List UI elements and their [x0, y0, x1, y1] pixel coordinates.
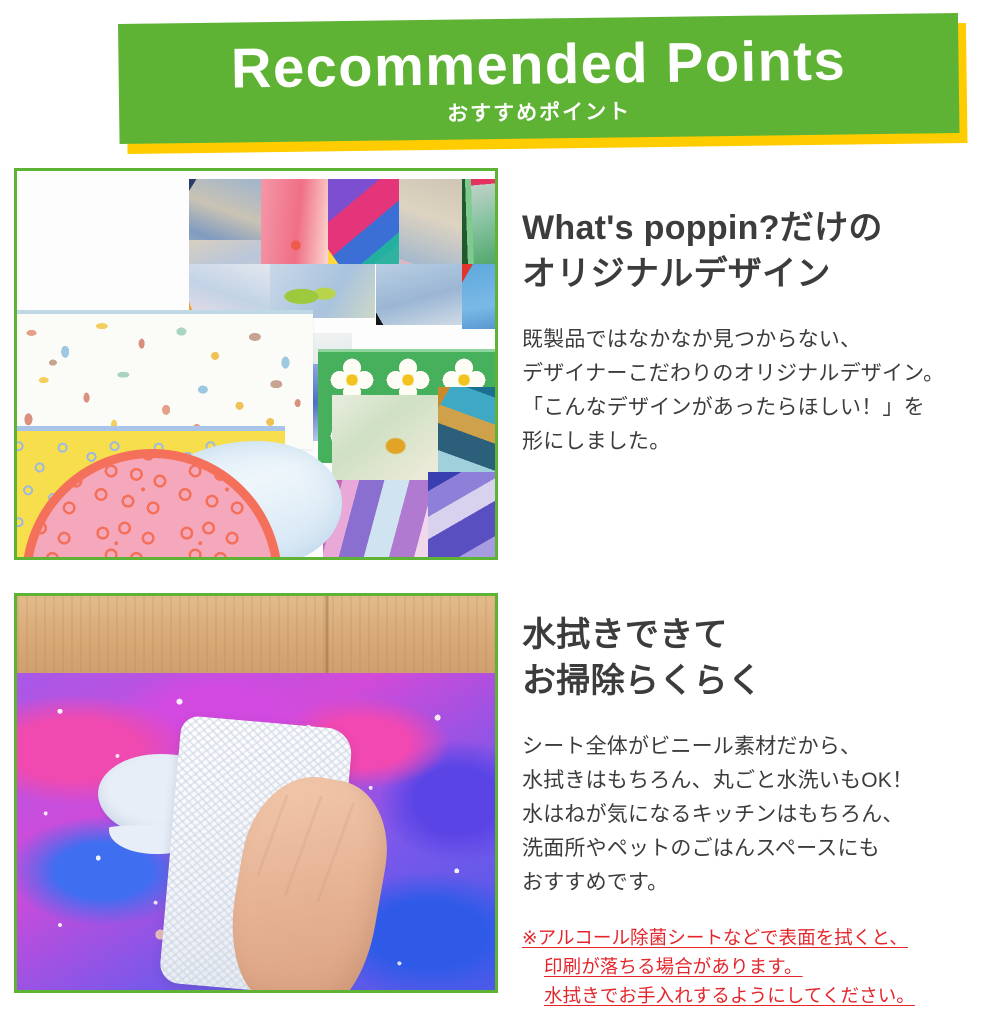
swatch-wall-texture: [399, 179, 461, 264]
feature-heading-1: What's poppin?だけの オリジナルデザイン: [522, 206, 1000, 297]
page-title: Recommended Points: [231, 32, 847, 96]
banner-text-group: Recommended Points おすすめポイント: [118, 13, 959, 144]
feature-body-2: シート全体がビニール素材だから、 水拭きはもちろん、丸ごと水洗いもOK！ 水はね…: [522, 730, 1000, 900]
feature-body-1-line-3: 「こんなデザインがあったらほしい！」を: [522, 391, 1000, 425]
feature-heading-2: 水拭きできて お掃除らくらく: [522, 613, 1000, 704]
feature-heading-2-line-2: お掃除らくらく: [522, 659, 1000, 705]
feature-image-wipe-clean: [14, 593, 498, 993]
feature-heading-1-line-2: オリジナルデザイン: [522, 252, 1000, 298]
swatch-pink-dot: [261, 179, 328, 264]
feature-body-1-line-1: 既製品ではなかなか見つからない、: [522, 323, 1000, 357]
feature-body-1: 既製品ではなかなか見つからない、 デザイナーこだわりのオリジナルデザイン。 「こ…: [522, 323, 1000, 459]
feature-image-original-design: [14, 168, 498, 560]
swatch-red-line-blue: [462, 264, 498, 330]
swatch-green-stripe: [462, 179, 498, 264]
feature-body-2-line-5: おすすめです。: [522, 866, 1000, 900]
caution-note-line-3: 水拭きでお手入れするようにしてください。: [522, 982, 1000, 1011]
feature-body-2-line-2: 水拭きはもちろん、丸ごと水洗いもOK！: [522, 764, 1000, 798]
photo-wood-floor: [17, 596, 495, 675]
swatch-blue-brick: [376, 264, 462, 326]
feature-text-1: What's poppin?だけの オリジナルデザイン 既製品ではなかなか見つか…: [522, 168, 1000, 560]
feature-text-2: 水拭きできて お掃除らくらく シート全体がビニール素材だから、 水拭きはもちろん…: [522, 593, 1000, 993]
swatch-marble-blue-violet: [428, 472, 498, 560]
feature-heading-1-line-1: What's poppin?だけの: [522, 206, 1000, 252]
feature-section-1: What's poppin?だけの オリジナルデザイン 既製品ではなかなか見つか…: [0, 168, 1000, 560]
feature-body-2-line-3: 水はねが気になるキッチンはもちろん、: [522, 798, 1000, 832]
swatch-pink-squiggle-circle: [22, 449, 282, 560]
feature-caution-note: ※アルコール除菌シートなどで表面を拭くと、 印刷が落ちる場合があります。 水拭き…: [522, 924, 1000, 1011]
swatch-graffiti-colorful: [328, 179, 400, 264]
swatch-marble-green-gold: [332, 395, 437, 480]
caution-note-line-1: ※アルコール除菌シートなどで表面を拭くと、: [522, 924, 1000, 953]
feature-body-1-line-4: 形にしました。: [522, 425, 1000, 459]
feature-body-1-line-2: デザイナーこだわりのオリジナルデザイン。: [522, 357, 1000, 391]
feature-body-2-line-4: 洗面所やペットのごはんスペースにも: [522, 832, 1000, 866]
page-header-banner: Recommended Points おすすめポイント: [0, 0, 1000, 170]
caution-note-line-2: 印刷が落ちる場合があります。: [522, 953, 1000, 982]
feature-heading-2-line-1: 水拭きできて: [522, 613, 1000, 659]
feature-body-2-line-1: シート全体がビニール素材だから、: [522, 730, 1000, 764]
feature-section-2: 水拭きできて お掃除らくらく シート全体がビニール素材だから、 水拭きはもちろん…: [0, 593, 1000, 993]
page-subtitle: おすすめポイント: [447, 101, 631, 124]
